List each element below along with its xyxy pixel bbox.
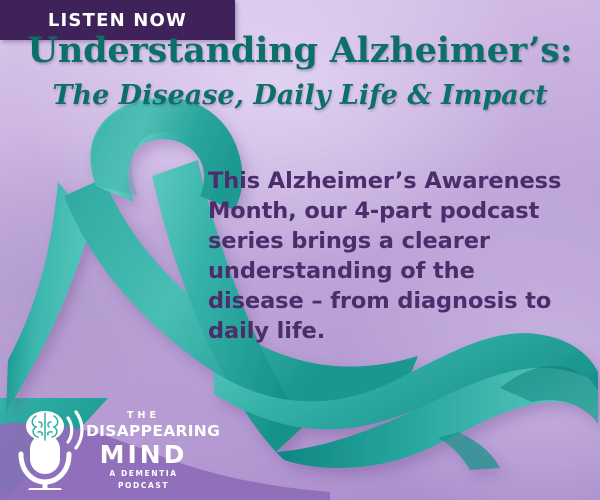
logo-line-mind: MIND [86,441,201,468]
logo-line-disappearing: DISAPPEARING [86,422,201,441]
body-copy: This Alzheimer’s Awareness Month, our 4-… [208,166,568,346]
page-title: Understanding Alzheimer’s: [0,30,600,71]
logo-wordmark: THE DISAPPEARING MIND A DEMENTIA PODCAST [86,410,201,492]
podcast-logo[interactable]: THE DISAPPEARING MIND A DEMENTIA PODCAST [8,404,198,492]
advertisement-banner: Understanding Alzheimer’s: The Disease, … [0,0,600,500]
brain-microphone-icon [8,404,86,490]
logo-tagline: A DEMENTIA PODCAST [86,468,201,492]
page-subtitle: The Disease, Daily Life & Impact [0,80,600,111]
logo-line-the: THE [86,410,201,422]
